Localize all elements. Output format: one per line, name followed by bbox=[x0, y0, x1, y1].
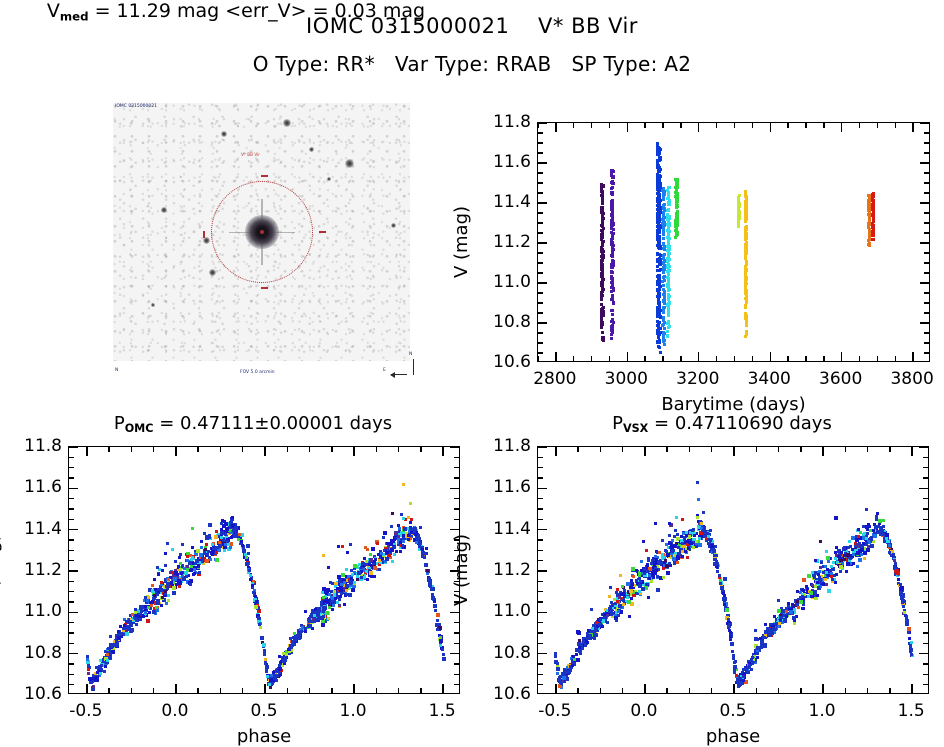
x-axis-minor-tick bbox=[197, 688, 198, 693]
data-point bbox=[863, 551, 867, 555]
data-point bbox=[882, 525, 885, 528]
x-axis-minor-tick bbox=[662, 123, 663, 128]
data-point bbox=[648, 567, 652, 571]
y-axis-minor-tick bbox=[538, 591, 543, 592]
data-point bbox=[707, 535, 710, 538]
data-point bbox=[713, 554, 716, 557]
data-point bbox=[327, 566, 330, 569]
y-axis-tick bbox=[538, 447, 547, 448]
data-point bbox=[231, 516, 234, 519]
y-axis-minor-tick bbox=[538, 342, 543, 343]
x-tick-label: 2800 bbox=[533, 369, 576, 389]
data-point bbox=[693, 538, 696, 541]
vsx-symbol: P bbox=[612, 413, 623, 434]
data-point bbox=[90, 681, 93, 684]
data-point bbox=[811, 571, 814, 574]
data-point bbox=[658, 174, 661, 177]
data-point bbox=[590, 608, 593, 611]
data-point bbox=[910, 653, 913, 656]
data-point bbox=[345, 568, 348, 571]
x-axis-minor-tick bbox=[787, 356, 788, 361]
data-point bbox=[809, 591, 813, 595]
data-point bbox=[647, 596, 650, 599]
x-axis-minor-tick bbox=[859, 123, 860, 128]
data-point bbox=[631, 583, 634, 586]
data-point bbox=[805, 585, 808, 588]
y-axis-minor-tick bbox=[538, 172, 543, 173]
field-star bbox=[209, 269, 216, 276]
x-axis-minor-tick bbox=[877, 123, 878, 128]
data-point bbox=[661, 553, 664, 556]
sky-field-image: IOMC 0315000021 V* BB Vir N FOV 5.0 arcm… bbox=[113, 103, 410, 361]
y-axis-tick bbox=[920, 123, 929, 124]
lightcurve-data-area bbox=[538, 123, 929, 361]
data-point bbox=[830, 565, 833, 568]
data-point bbox=[733, 665, 737, 669]
x-axis-minor-tick bbox=[376, 688, 377, 693]
data-point bbox=[888, 551, 891, 554]
data-point bbox=[423, 556, 426, 559]
data-point bbox=[698, 537, 701, 540]
data-point bbox=[834, 516, 838, 520]
data-point bbox=[662, 198, 665, 201]
data-point bbox=[628, 615, 631, 618]
data-point bbox=[615, 619, 618, 622]
data-point bbox=[345, 584, 349, 588]
data-point bbox=[820, 561, 823, 564]
y-axis-tick bbox=[920, 162, 929, 163]
data-point bbox=[666, 553, 670, 557]
field-star bbox=[221, 131, 227, 137]
x-tick-label: 1.0 bbox=[809, 701, 836, 721]
y-axis-minor-tick bbox=[923, 467, 928, 468]
data-point bbox=[610, 320, 613, 323]
y-axis-tick bbox=[919, 447, 928, 448]
y-axis-minor-tick bbox=[69, 560, 74, 561]
data-point bbox=[665, 564, 669, 568]
data-point bbox=[341, 545, 344, 548]
x-axis-minor-tick bbox=[895, 356, 896, 361]
data-point bbox=[208, 523, 212, 527]
data-point bbox=[177, 579, 181, 583]
data-point bbox=[623, 589, 626, 592]
y-axis-minor-tick bbox=[924, 302, 929, 303]
data-point bbox=[714, 558, 717, 561]
data-point bbox=[872, 226, 875, 229]
x-axis-tick bbox=[644, 447, 645, 456]
y-axis-minor-tick bbox=[69, 581, 74, 582]
data-point bbox=[751, 662, 754, 665]
data-point bbox=[673, 562, 676, 565]
data-point bbox=[425, 552, 428, 555]
x-axis-tick bbox=[86, 447, 87, 456]
data-point bbox=[397, 535, 400, 538]
data-point bbox=[656, 258, 659, 261]
data-point bbox=[608, 609, 611, 612]
data-point bbox=[262, 643, 266, 647]
data-point bbox=[351, 588, 355, 592]
data-point bbox=[160, 581, 163, 584]
data-point bbox=[662, 271, 665, 274]
y-axis-tick bbox=[919, 529, 928, 530]
data-point bbox=[296, 634, 299, 637]
data-point bbox=[656, 212, 659, 215]
data-point bbox=[266, 675, 269, 678]
data-point bbox=[333, 590, 336, 593]
data-point bbox=[156, 593, 159, 596]
data-point bbox=[882, 519, 885, 522]
data-point bbox=[156, 566, 159, 569]
data-point bbox=[129, 620, 132, 623]
data-point bbox=[147, 596, 150, 599]
vsx-subscript: VSX bbox=[623, 422, 648, 435]
y-axis-minor-tick bbox=[69, 539, 74, 540]
data-point bbox=[343, 603, 346, 606]
data-point bbox=[851, 548, 854, 551]
data-point bbox=[340, 592, 343, 595]
data-point bbox=[566, 670, 570, 674]
data-point bbox=[554, 655, 557, 658]
x-axis-minor-tick bbox=[787, 123, 788, 128]
y-axis-minor-tick bbox=[69, 467, 74, 468]
data-point bbox=[867, 205, 870, 208]
x-axis-tick bbox=[733, 447, 734, 456]
data-point bbox=[562, 676, 566, 680]
data-point bbox=[712, 549, 716, 553]
y-axis-tick bbox=[538, 162, 547, 163]
x-axis-minor-tick bbox=[662, 356, 663, 361]
y-axis-minor-tick bbox=[538, 302, 543, 303]
data-point bbox=[161, 596, 164, 599]
data-point bbox=[659, 148, 662, 151]
data-point bbox=[744, 306, 747, 309]
data-point bbox=[419, 526, 422, 529]
data-point bbox=[667, 313, 670, 316]
y-axis-minor-tick bbox=[454, 663, 459, 664]
x-axis-tick bbox=[627, 352, 628, 361]
data-point bbox=[767, 628, 770, 631]
x-axis-minor-tick bbox=[859, 356, 860, 361]
data-point bbox=[865, 537, 868, 540]
data-point bbox=[402, 540, 405, 543]
y-axis-minor-tick bbox=[538, 212, 543, 213]
y-axis-minor-tick bbox=[538, 352, 543, 353]
y-axis-minor-tick bbox=[923, 643, 928, 644]
data-point bbox=[612, 232, 615, 235]
data-point bbox=[333, 593, 336, 596]
data-point bbox=[332, 600, 336, 604]
data-point bbox=[255, 600, 258, 603]
data-point bbox=[692, 546, 695, 549]
data-point bbox=[365, 560, 368, 563]
data-point bbox=[875, 518, 878, 521]
data-point bbox=[814, 591, 817, 594]
data-point bbox=[816, 581, 819, 584]
data-point bbox=[611, 313, 614, 316]
data-point bbox=[674, 195, 677, 198]
data-point bbox=[611, 296, 614, 299]
data-point bbox=[863, 557, 866, 560]
data-point bbox=[856, 551, 860, 555]
data-point bbox=[700, 522, 703, 525]
data-point bbox=[816, 594, 819, 597]
data-point bbox=[839, 565, 843, 569]
data-point bbox=[144, 596, 147, 599]
data-point bbox=[675, 180, 678, 183]
data-point bbox=[601, 244, 604, 247]
data-point bbox=[745, 211, 748, 214]
data-point bbox=[657, 302, 660, 305]
data-point bbox=[688, 541, 691, 544]
y-axis-minor-tick bbox=[923, 581, 928, 582]
x-axis-tick bbox=[86, 684, 87, 693]
y-axis-minor-tick bbox=[538, 262, 543, 263]
x-axis-tick bbox=[264, 447, 265, 456]
y-tick-label: 10.8 bbox=[475, 312, 531, 332]
y-axis-minor-tick bbox=[924, 222, 929, 223]
data-point bbox=[745, 333, 748, 336]
data-point bbox=[591, 627, 594, 630]
data-point bbox=[127, 628, 130, 631]
y-tick-label: 11.8 bbox=[475, 112, 531, 132]
data-point bbox=[662, 267, 665, 270]
x-axis-minor-tick bbox=[823, 356, 824, 361]
data-point bbox=[674, 529, 677, 532]
y-axis-tick bbox=[69, 447, 78, 448]
x-tick-label: 0.0 bbox=[161, 701, 188, 721]
data-point bbox=[642, 540, 645, 543]
data-point bbox=[867, 243, 870, 246]
data-point bbox=[662, 233, 665, 236]
data-point bbox=[572, 655, 575, 658]
data-point bbox=[401, 544, 404, 547]
data-point bbox=[149, 601, 152, 604]
x-axis-minor-tick bbox=[153, 688, 154, 693]
data-point bbox=[419, 542, 422, 545]
data-point bbox=[834, 581, 837, 584]
data-point bbox=[245, 556, 248, 559]
x-axis-tick bbox=[353, 684, 354, 693]
data-point bbox=[294, 638, 297, 641]
y-axis-tick bbox=[450, 612, 459, 613]
y-axis-minor-tick bbox=[538, 182, 543, 183]
data-point bbox=[316, 612, 320, 616]
x-axis-minor-tick bbox=[711, 447, 712, 452]
y-axis-tick bbox=[919, 653, 928, 654]
data-point bbox=[858, 558, 862, 562]
data-point bbox=[846, 553, 850, 557]
data-point bbox=[849, 557, 852, 560]
y-axis-minor-tick bbox=[538, 222, 543, 223]
data-point bbox=[907, 627, 911, 631]
data-point bbox=[337, 575, 341, 579]
data-point bbox=[331, 608, 334, 611]
y-tick-label: 11.2 bbox=[6, 560, 62, 580]
data-point bbox=[322, 554, 325, 557]
data-point bbox=[395, 550, 398, 553]
data-point bbox=[611, 192, 614, 195]
x-axis-tick bbox=[264, 684, 265, 693]
data-point bbox=[664, 559, 667, 562]
y-tick-label: 11.4 bbox=[475, 192, 531, 212]
y-axis-minor-tick bbox=[454, 498, 459, 499]
data-point bbox=[664, 549, 667, 552]
data-point bbox=[269, 679, 272, 682]
data-point bbox=[610, 327, 613, 330]
x-axis-tick bbox=[442, 684, 443, 693]
chart-label-target: V* BB Vir bbox=[241, 153, 260, 157]
data-point bbox=[439, 644, 442, 647]
data-point bbox=[901, 601, 904, 604]
data-point bbox=[602, 184, 605, 187]
data-point bbox=[87, 672, 90, 675]
data-point bbox=[178, 556, 181, 559]
data-point bbox=[635, 569, 638, 572]
data-point bbox=[134, 617, 137, 620]
data-point bbox=[668, 265, 671, 268]
data-point bbox=[599, 618, 602, 621]
x-axis-tick bbox=[698, 352, 699, 361]
data-point bbox=[874, 525, 878, 529]
data-point bbox=[868, 238, 871, 241]
data-point bbox=[617, 614, 620, 617]
field-star bbox=[151, 303, 155, 307]
x-axis-minor-tick bbox=[889, 688, 890, 693]
data-point bbox=[409, 527, 412, 530]
data-point bbox=[611, 237, 614, 240]
data-point bbox=[417, 534, 420, 537]
y-axis-minor-tick bbox=[538, 519, 543, 520]
data-point bbox=[900, 596, 903, 599]
data-point bbox=[246, 544, 250, 548]
x-axis-minor-tick bbox=[609, 123, 610, 128]
data-point bbox=[339, 588, 343, 592]
data-point bbox=[184, 571, 188, 575]
x-axis-minor-tick bbox=[680, 123, 681, 128]
y-axis-minor-tick bbox=[924, 232, 929, 233]
data-point bbox=[802, 578, 806, 582]
data-point bbox=[178, 585, 181, 588]
data-point bbox=[223, 549, 226, 552]
x-axis-minor-tick bbox=[666, 688, 667, 693]
data-point bbox=[656, 306, 659, 309]
data-point bbox=[92, 685, 95, 688]
data-point bbox=[593, 637, 596, 640]
x-axis-tick bbox=[555, 123, 556, 132]
x-axis-tick bbox=[698, 123, 699, 132]
x-axis-title: phase bbox=[237, 726, 291, 747]
y-axis-minor-tick bbox=[538, 622, 543, 623]
data-point bbox=[554, 652, 557, 655]
data-point bbox=[666, 223, 669, 226]
data-point bbox=[398, 527, 401, 530]
data-point bbox=[154, 588, 157, 591]
data-point bbox=[737, 678, 740, 681]
data-point bbox=[433, 600, 436, 603]
data-point bbox=[745, 263, 748, 266]
data-point bbox=[429, 585, 432, 588]
data-point bbox=[785, 610, 788, 613]
data-point bbox=[745, 203, 748, 206]
data-point bbox=[668, 534, 671, 537]
data-point bbox=[796, 590, 799, 593]
data-point bbox=[338, 604, 341, 607]
data-point bbox=[403, 527, 407, 531]
data-point bbox=[727, 618, 730, 621]
data-point bbox=[681, 550, 684, 553]
data-point bbox=[737, 225, 740, 228]
y-tick-label: 11.4 bbox=[475, 519, 531, 539]
data-point bbox=[424, 563, 428, 567]
data-point bbox=[910, 641, 913, 644]
data-point bbox=[656, 217, 659, 220]
data-point bbox=[164, 552, 167, 555]
data-point bbox=[626, 596, 629, 599]
data-point bbox=[200, 540, 203, 543]
data-point bbox=[392, 540, 395, 543]
data-point bbox=[402, 517, 405, 520]
compass-arrow-east bbox=[391, 374, 407, 375]
y-axis-minor-tick bbox=[69, 601, 74, 602]
data-point bbox=[172, 591, 176, 595]
lightcurve-plot bbox=[537, 122, 930, 362]
data-point bbox=[340, 583, 343, 586]
data-point bbox=[407, 538, 410, 541]
x-axis-tick bbox=[912, 123, 913, 132]
data-point bbox=[658, 203, 661, 206]
data-point bbox=[131, 613, 134, 616]
y-axis-minor-tick bbox=[69, 519, 74, 520]
omc-symbol: P bbox=[114, 413, 125, 434]
data-point bbox=[346, 551, 349, 554]
data-point bbox=[665, 543, 668, 546]
data-point bbox=[610, 337, 613, 340]
data-point bbox=[421, 551, 425, 555]
data-point bbox=[653, 561, 657, 565]
data-point bbox=[783, 618, 787, 622]
y-axis-minor-tick bbox=[923, 560, 928, 561]
data-point bbox=[322, 606, 326, 610]
data-point bbox=[656, 181, 659, 184]
y-axis-tick bbox=[538, 322, 547, 323]
y-axis-minor-tick bbox=[454, 622, 459, 623]
x-axis-tick bbox=[555, 684, 556, 693]
data-point bbox=[611, 282, 614, 285]
y-axis-minor-tick bbox=[923, 457, 928, 458]
data-point bbox=[655, 569, 658, 572]
data-point bbox=[629, 589, 633, 593]
x-axis-minor-tick bbox=[577, 688, 578, 693]
data-point bbox=[897, 578, 900, 581]
data-point bbox=[730, 642, 734, 646]
field-star bbox=[391, 223, 396, 228]
data-point bbox=[382, 536, 385, 539]
data-point bbox=[728, 629, 731, 632]
x-axis-minor-tick bbox=[538, 123, 539, 128]
data-point bbox=[772, 627, 775, 630]
data-point bbox=[109, 635, 112, 638]
data-point bbox=[556, 667, 560, 671]
data-point bbox=[697, 498, 700, 501]
data-point bbox=[640, 560, 643, 563]
data-point bbox=[817, 586, 820, 589]
data-point bbox=[674, 191, 677, 194]
x-axis-tick bbox=[442, 447, 443, 456]
data-point bbox=[436, 613, 440, 617]
data-point bbox=[179, 553, 182, 556]
y-axis-minor-tick bbox=[923, 622, 928, 623]
data-point bbox=[676, 561, 679, 564]
